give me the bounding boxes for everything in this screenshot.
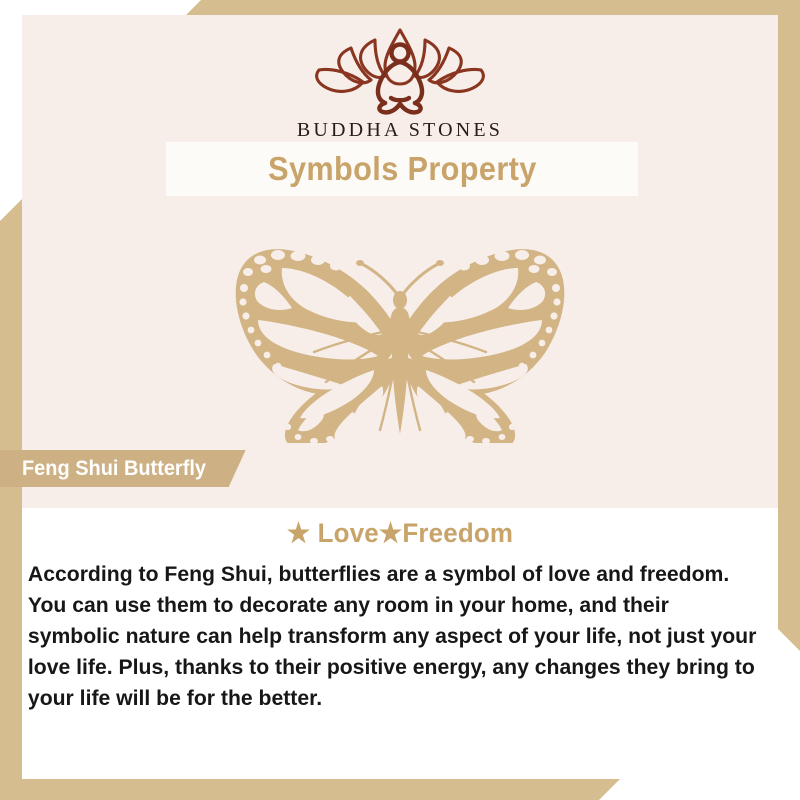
- butterfly-illustration: [222, 238, 578, 443]
- description-paragraph: According to Feng Shui, butterflies are …: [22, 549, 767, 714]
- brand-logo: BUDDHA STONES: [0, 22, 800, 142]
- section-tab-feng-shui-butterfly[interactable]: Feng Shui Butterfly: [0, 450, 246, 487]
- page-title: Symbols Property: [268, 150, 537, 188]
- product-infographic-page: BUDDHA STONES Symbols Property: [0, 0, 800, 800]
- title-banner: Symbols Property: [166, 142, 638, 196]
- brand-name: BUDDHA STONES: [0, 119, 800, 142]
- section-tab-label: Feng Shui Butterfly: [22, 457, 206, 481]
- decorative-band-top: [186, 0, 800, 15]
- lotus-meditation-figure-icon: [305, 22, 495, 117]
- decorative-band-bottom: [0, 779, 620, 800]
- keywords-heading: ★ Love★Freedom: [37, 508, 763, 549]
- description-panel: ★ Love★Freedom According to Feng Shui, b…: [22, 508, 778, 779]
- butterfly-icon: [222, 238, 578, 443]
- decorative-band-left: [0, 199, 22, 800]
